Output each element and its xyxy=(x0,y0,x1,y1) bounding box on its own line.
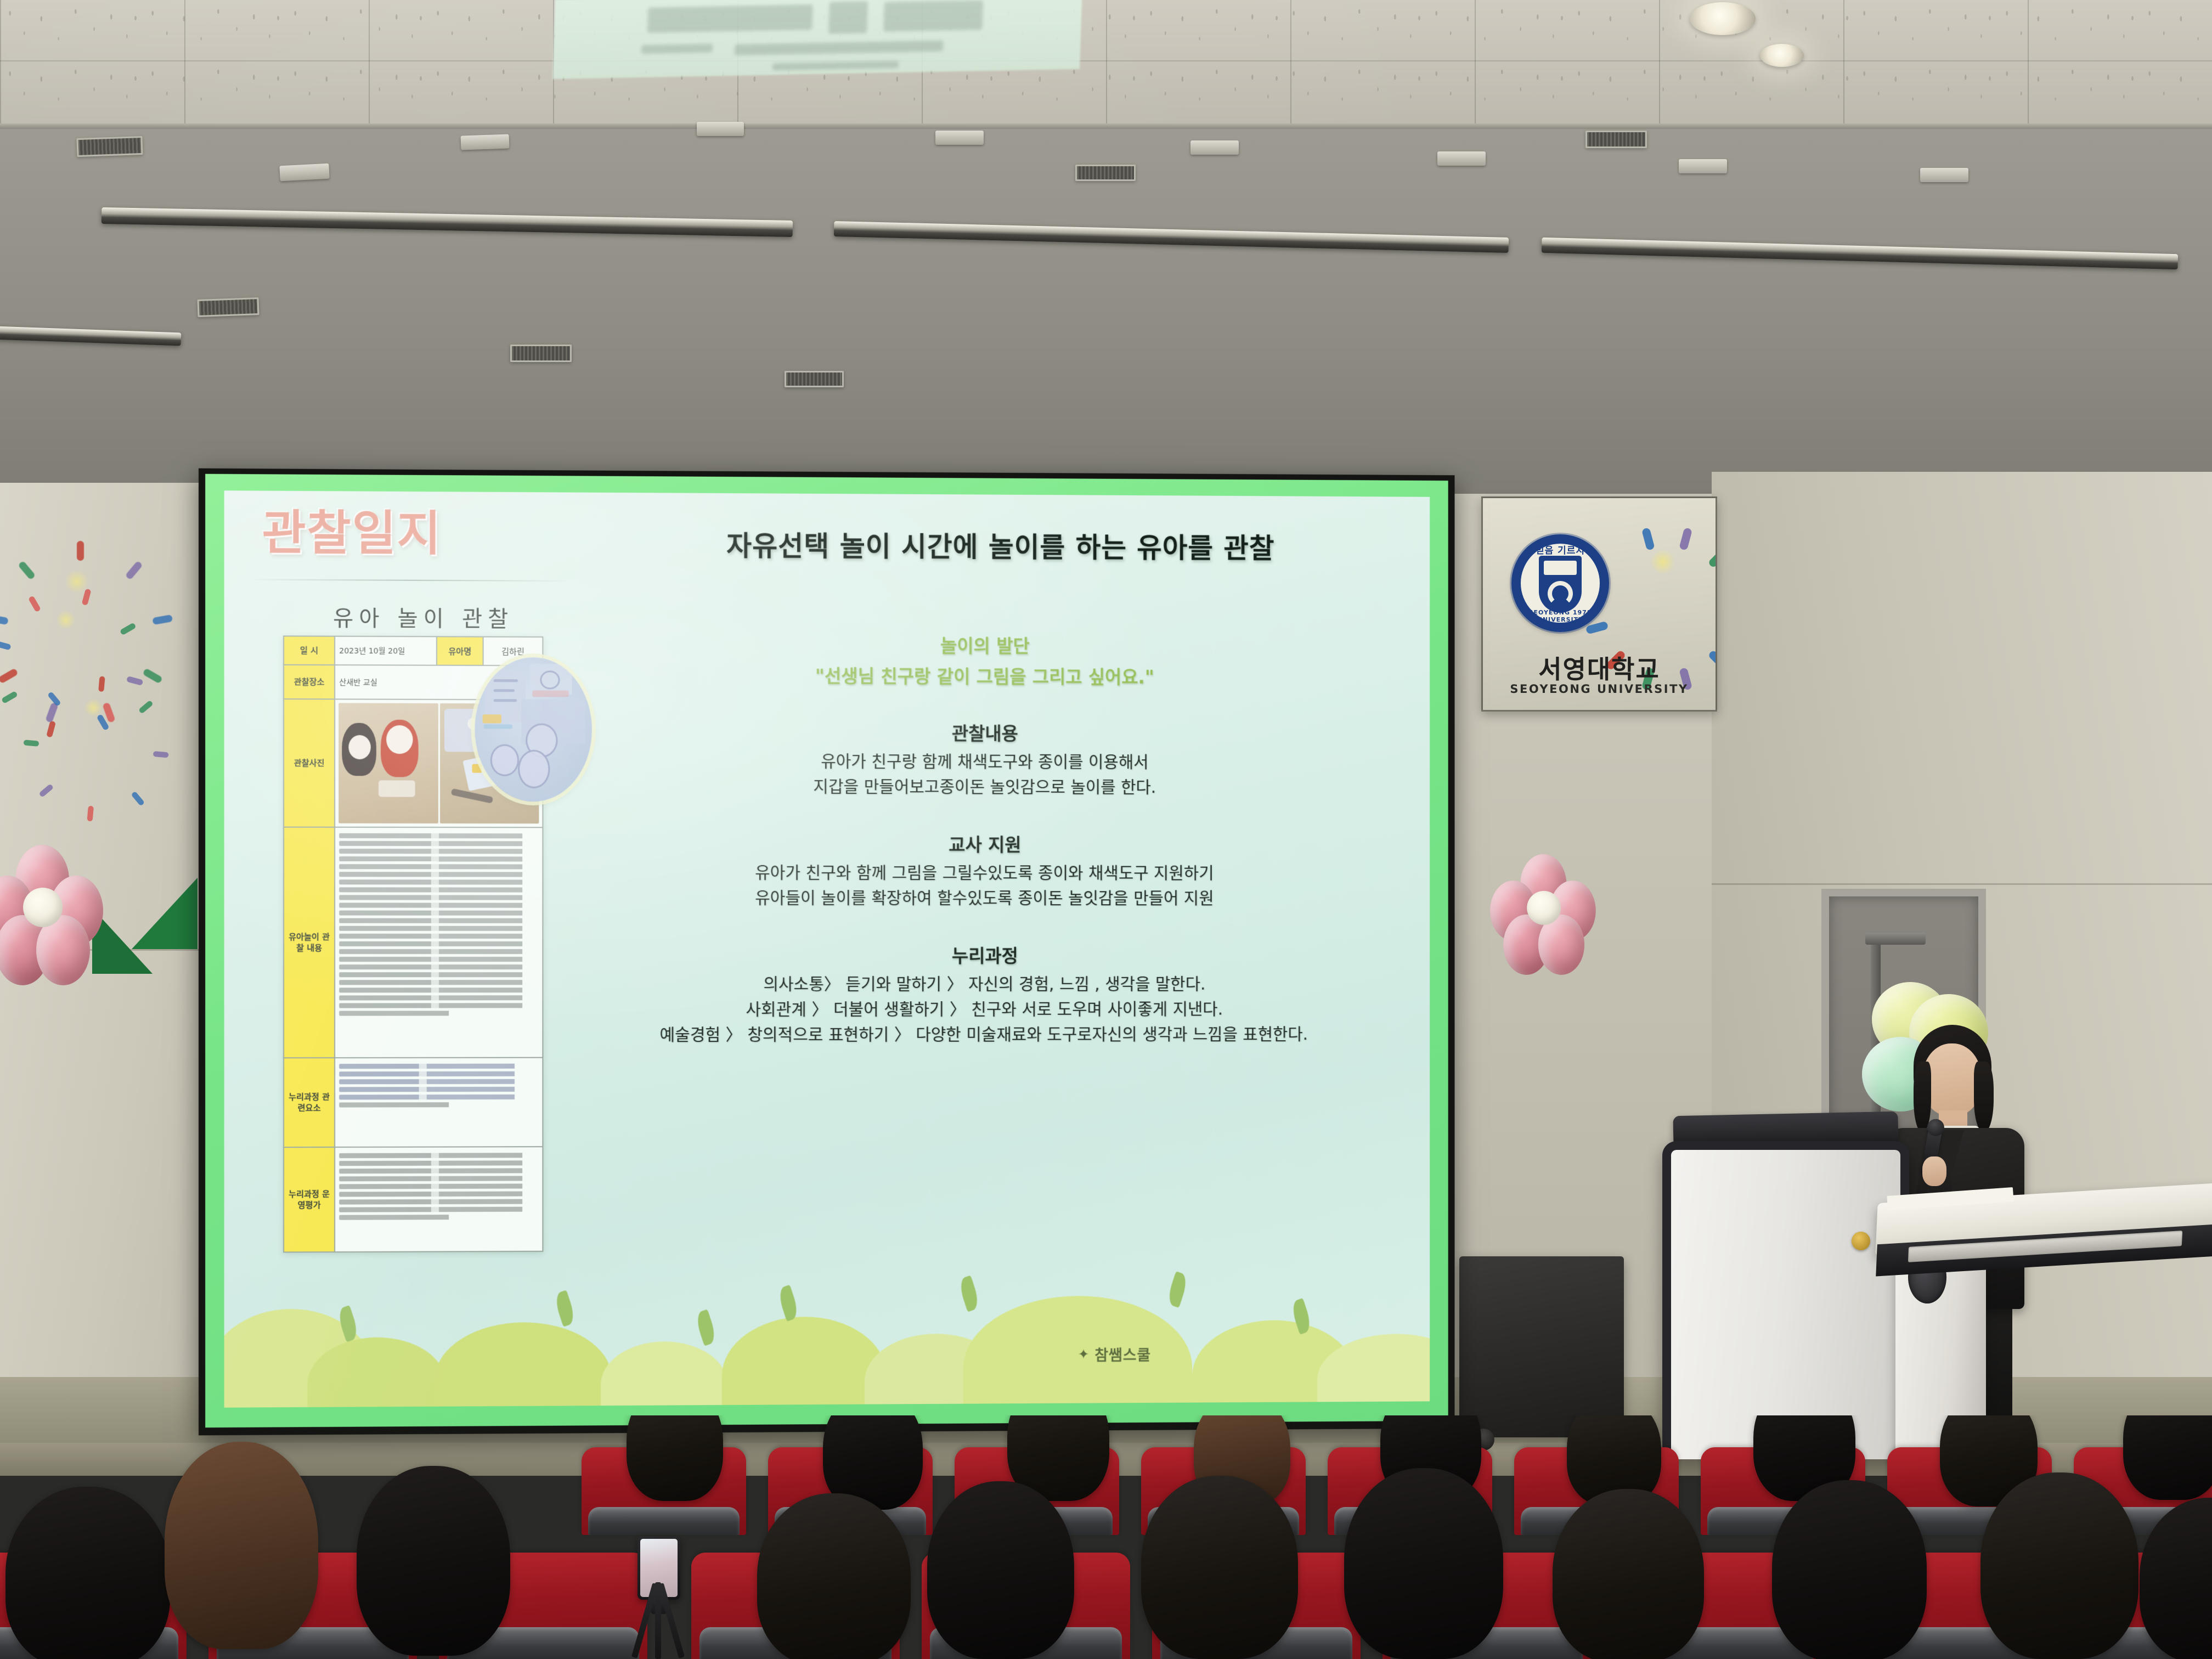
worksheet-row-observation: 유아놀이 관찰 내용 xyxy=(284,828,542,1059)
university-burst-icon xyxy=(1613,508,1712,616)
worksheet-row-date: 일 시 2023년 10월 20일 유아명 김하린 xyxy=(284,636,542,666)
school-logo-text: 참쌤스쿨 xyxy=(1094,1343,1151,1364)
ac-ceiling-vent-5 xyxy=(1075,165,1136,181)
ac-ceiling-vent-3 xyxy=(510,345,572,362)
audience-head-front xyxy=(757,1493,911,1659)
ac-ceiling-vent-2 xyxy=(197,297,259,317)
sprout-2 xyxy=(553,1290,577,1327)
bush-4 xyxy=(601,1341,727,1406)
balloon-flower-right xyxy=(1490,854,1599,967)
worksheet-label-photos: 관찰사진 xyxy=(284,699,335,827)
worksheet-label-observation: 유아놀이 관찰 내용 xyxy=(284,828,335,1058)
sprout-4 xyxy=(776,1285,800,1322)
slide-content-column: 놀이의 발단 "선생님 친구랑 같이 그림을 그리고 싶어요." 관찰내용 유아… xyxy=(579,630,1387,1047)
slide-logo-title: 관찰일지 xyxy=(262,510,442,558)
presenter-head xyxy=(1922,1043,1982,1116)
secondary-projection-spill xyxy=(552,0,1082,79)
nuri-line-social: 사회관계 〉 더불어 생활하기 〉 친구와 서로 도우며 사이좋게 지낸다. xyxy=(579,997,1387,1022)
audience-head-front xyxy=(1141,1476,1298,1659)
worksheet-label-place: 관찰장소 xyxy=(284,665,335,699)
worksheet-row-nuri-evaluation: 누리과정 운영평가 xyxy=(284,1147,542,1251)
ceiling-light-slot-4 xyxy=(935,131,984,145)
ceiling-acoustic-tiles xyxy=(0,0,2212,126)
seal-bottom-text: SEOYEONG 1978 UNIVERSITY xyxy=(1521,609,1600,623)
firework-wall-decor-2 xyxy=(21,575,111,665)
child-drawing-photo xyxy=(475,657,592,802)
worksheet-value-nuri-elements xyxy=(335,1058,542,1147)
university-name-english: SEOYEONG UNIVERSITY xyxy=(1483,682,1716,696)
door-handle-icon xyxy=(1865,933,1926,945)
ceiling-downlight-2 xyxy=(1760,44,1804,67)
section-observation: 관찰내용 유아가 친구랑 함께 채색도구와 종이를 이용해서 지갑을 만들어보고… xyxy=(579,718,1387,800)
university-banner: 믿음 기르지 SEOYEONG 1978 UNIVERSITY 서영대학교 SE… xyxy=(1481,496,1717,712)
worksheet-label-childname: 유아명 xyxy=(436,637,484,665)
presentation-hall-photo: 믿음 기르지 SEOYEONG 1978 UNIVERSITY 서영대학교 SE… xyxy=(0,0,2212,1659)
presenter-hair-right xyxy=(1974,1062,1994,1132)
slide-divider xyxy=(255,579,565,582)
slide-green-border: 관찰일지 유아 놀이 관찰 자유선택 놀이 시간에 놀이를 하는 유아를 관찰 … xyxy=(205,474,1448,1427)
audience-head-front xyxy=(1344,1468,1503,1659)
audience-head-front xyxy=(1980,1472,2138,1659)
star-icon: ✦ xyxy=(1078,1346,1090,1362)
ceiling-light-slot-5 xyxy=(1190,140,1239,155)
seal-top-text: 믿음 기르지 xyxy=(1521,543,1600,556)
firework-wall-decor-3 xyxy=(50,665,136,751)
observation-line-2: 지갑을 만들어보고종이돈 놀잇감으로 놀이를 한다. xyxy=(579,774,1387,800)
slide-main-title: 자유선택 놀이 시간에 놀이를 하는 유아를 관찰 xyxy=(612,523,1387,566)
observation-photo-1 xyxy=(338,703,438,823)
section-heading-nuri: 누리과정 xyxy=(579,941,1387,968)
projector-cart xyxy=(1459,1256,1624,1437)
seal-shield-icon xyxy=(1539,556,1582,613)
ac-ceiling-vent-6 xyxy=(1585,131,1647,148)
section-quote-play-origin: "선생님 친구랑 같이 그림을 그리고 싶어요." xyxy=(579,661,1387,690)
podium xyxy=(1662,1141,1909,1459)
presenter-hair-left xyxy=(1914,1062,1931,1132)
worksheet-label-date: 일 시 xyxy=(284,636,335,664)
podium-emblem-icon xyxy=(1852,1232,1870,1250)
school-logo-badge: ✦ 참쌤스쿨 xyxy=(1078,1343,1151,1364)
audience-head-front xyxy=(5,1487,170,1659)
nuri-line-art: 예술경험 〉 창의적으로 표현하기 〉 다양한 미술재료와 도구로자신의 생각과… xyxy=(579,1022,1387,1048)
section-play-origin: 놀이의 발단 "선생님 친구랑 같이 그림을 그리고 싶어요." xyxy=(579,630,1387,690)
sprout-6 xyxy=(1166,1271,1190,1308)
audience-head xyxy=(627,1415,723,1501)
worksheet-label-nuri-elements: 누리과정 관련요소 xyxy=(284,1058,335,1147)
ceiling-light-slot-2 xyxy=(461,134,510,150)
projection-screen: 관찰일지 유아 놀이 관찰 자유선택 놀이 시간에 놀이를 하는 유아를 관찰 … xyxy=(199,469,1455,1436)
ceiling-light-slot-6 xyxy=(1437,151,1486,166)
bush-5 xyxy=(722,1317,887,1405)
nuri-line-communication: 의사소통〉 듣기와 말하기 〉 자신의 경험, 느낌 , 생각을 말한다. xyxy=(579,972,1387,997)
balloon-flower-left xyxy=(0,845,106,977)
bush-3 xyxy=(435,1322,612,1407)
sprout-3 xyxy=(694,1309,718,1346)
sprout-5 xyxy=(957,1276,981,1312)
worksheet-value-observation xyxy=(335,828,542,1057)
worksheet-label-nuri-evaluation: 누리과정 운영평가 xyxy=(284,1148,335,1251)
audience-head-front xyxy=(1553,1489,1704,1659)
ceiling-light-slot-7 xyxy=(1679,159,1727,173)
ceiling-light-slot-1 xyxy=(279,163,329,182)
presenter-hand xyxy=(1922,1156,1946,1186)
slide-bush-footer: ✦ 참쌤스쿨 xyxy=(224,1276,1430,1408)
section-heading-observation: 관찰내용 xyxy=(579,718,1387,747)
slide-subtitle: 유아 놀이 관찰 xyxy=(333,600,513,633)
section-nuri-curriculum: 누리과정 의사소통〉 듣기와 말하기 〉 자신의 경험, 느낌 , 생각을 말한… xyxy=(579,941,1387,1047)
worksheet-value-date: 2023년 10월 20일 xyxy=(335,637,436,665)
ceiling-light-slot-3 xyxy=(697,122,744,136)
audience-head-front xyxy=(357,1466,510,1656)
teacher-support-line-2: 유아들이 놀이를 확장하여 할수있도록 종이돈 놀잇감을 만들어 지원 xyxy=(579,885,1387,911)
audience-head-front xyxy=(165,1442,318,1649)
audience-head-front xyxy=(927,1481,1074,1659)
slide-canvas: 관찰일지 유아 놀이 관찰 자유선택 놀이 시간에 놀이를 하는 유아를 관찰 … xyxy=(224,490,1430,1408)
audience-head-front xyxy=(1772,1480,1927,1659)
section-teacher-support: 교사 지원 유아가 친구와 함께 그림을 그릴수있도록 종이와 채색도구 지원하… xyxy=(579,830,1387,911)
worksheet-value-nuri-evaluation xyxy=(335,1147,542,1251)
wall-seam-right xyxy=(1712,883,2212,885)
ceiling-light-slot-8 xyxy=(1920,168,1968,182)
university-name-korean: 서영대학교 xyxy=(1483,650,1716,686)
phone-tripod xyxy=(625,1536,691,1659)
section-heading-teacher-support: 교사 지원 xyxy=(579,830,1387,857)
audience-seating-area xyxy=(0,1415,2212,1659)
ac-ceiling-vent-1 xyxy=(76,136,143,157)
section-heading-play-origin: 놀이의 발단 xyxy=(579,630,1387,659)
university-seal-icon: 믿음 기르지 SEOYEONG 1978 UNIVERSITY xyxy=(1511,534,1609,632)
ceiling-soffit xyxy=(0,123,2212,507)
audience-head xyxy=(2123,1415,2212,1500)
worksheet-row-nuri-elements: 누리과정 관련요소 xyxy=(284,1058,542,1148)
observation-line-1: 유아가 친구랑 함께 채색도구와 종이를 이용해서 xyxy=(579,749,1387,776)
ac-ceiling-vent-4 xyxy=(785,371,844,387)
ceiling-downlight-1 xyxy=(1690,2,1756,35)
teacher-support-line-1: 유아가 친구와 함께 그림을 그릴수있도록 종이와 채색도구 지원하기 xyxy=(579,861,1387,887)
